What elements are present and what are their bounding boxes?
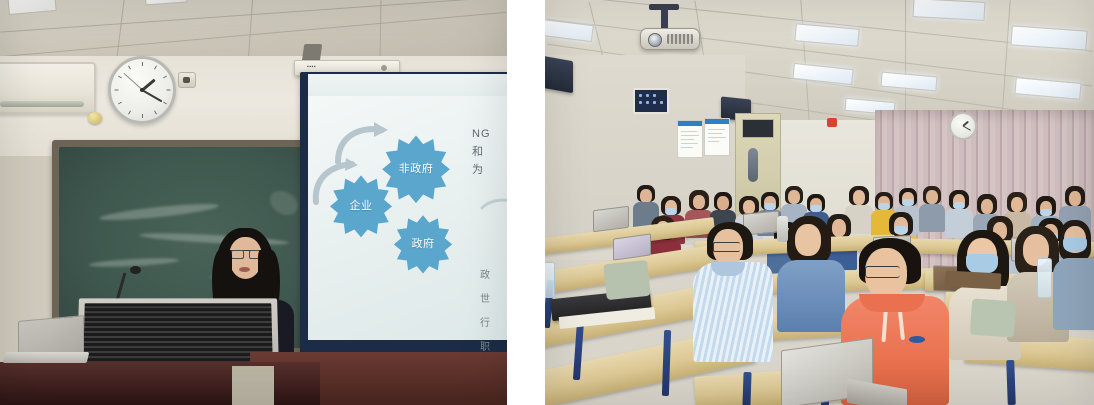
water-bottle [545, 262, 555, 298]
student [919, 186, 945, 232]
slide-lower-line3: 行 [480, 316, 491, 332]
notebook [945, 271, 1002, 290]
ceiling-light [7, 0, 56, 15]
roller-knob [381, 65, 387, 71]
projection-screen: 非政府 企业 政府 NG 和 为 政 世 行 职 [300, 72, 507, 362]
hoodie-hood [859, 294, 925, 312]
student-glasses-icon [713, 242, 740, 252]
screenshot-canvas: ▪▪▪▪ [0, 0, 1094, 405]
ceiling-light [913, 0, 986, 21]
projector-drop-pole [661, 8, 668, 30]
ceiling-light [545, 19, 594, 42]
chair-back [603, 260, 651, 300]
water-bottle [1037, 258, 1052, 298]
face-mask [1063, 238, 1087, 252]
student-right-masked [1053, 220, 1094, 330]
presenter-mouth [239, 267, 250, 272]
photo-right-audience [545, 0, 1094, 405]
hoodie-brand-logo-icon [909, 336, 925, 343]
wall-lamp [88, 112, 102, 124]
analog-wall-clock [108, 56, 176, 124]
slide-swoosh-icon [480, 196, 507, 212]
laptop [593, 208, 629, 230]
gear-label: 非政府 [399, 164, 434, 176]
wall-speaker [545, 55, 573, 93]
projector-vent [667, 34, 693, 44]
projector-lens [648, 33, 662, 47]
thermos [777, 216, 788, 242]
slide-text-line3: 为 [472, 162, 484, 179]
desk-panel [232, 366, 274, 405]
face-mask [966, 254, 998, 273]
av-control-panel[interactable] [633, 88, 669, 114]
ceiling-light [1014, 77, 1081, 100]
chair-back [970, 299, 1016, 338]
desk-leg [1006, 360, 1016, 405]
gear-government: 政府 [392, 214, 454, 276]
emergency-sign [827, 118, 837, 127]
ceiling-light [1010, 25, 1087, 50]
ceiling [0, 0, 507, 58]
slide-text-line2: 和 [472, 144, 484, 161]
denim-jacket [777, 260, 845, 332]
photo-left-lecturer: ▪▪▪▪ [0, 0, 507, 405]
student-glasses-icon [865, 266, 900, 278]
door-handle[interactable] [748, 148, 758, 182]
wall-sensor [178, 72, 196, 88]
microphone-head [130, 266, 141, 274]
gear-enterprise: 企业 [328, 174, 394, 240]
air-conditioner [0, 62, 96, 114]
presenter-glasses-lens [231, 250, 244, 259]
gear-label: 企业 [350, 201, 373, 213]
notice-poster [704, 118, 730, 156]
roller-label: ▪▪▪▪ [307, 64, 316, 70]
slide-lower-line1: 政 [480, 268, 491, 284]
door-vision-panel [742, 119, 774, 138]
laptop [613, 236, 653, 260]
ceiling-projector [640, 28, 700, 50]
desk-leg [742, 372, 751, 405]
desk-leg [662, 330, 671, 396]
slide-text-ngo: NG [472, 126, 491, 143]
slide-lower-line2: 世 [480, 292, 491, 308]
laptop-foreground[interactable] [781, 344, 901, 405]
ceiling-light [145, 0, 188, 5]
podium [77, 298, 279, 368]
analog-wall-clock [949, 112, 977, 140]
slide-content: 非政府 企业 政府 NG 和 为 政 世 行 职 [308, 96, 507, 340]
ceiling-light [880, 72, 937, 92]
ceiling-light [792, 63, 853, 85]
student-front-striped-shirt [693, 222, 773, 362]
laptop-base [3, 352, 90, 363]
gear-label: 政府 [412, 239, 435, 251]
notice-poster [677, 120, 703, 158]
striped-shirt [693, 262, 773, 362]
